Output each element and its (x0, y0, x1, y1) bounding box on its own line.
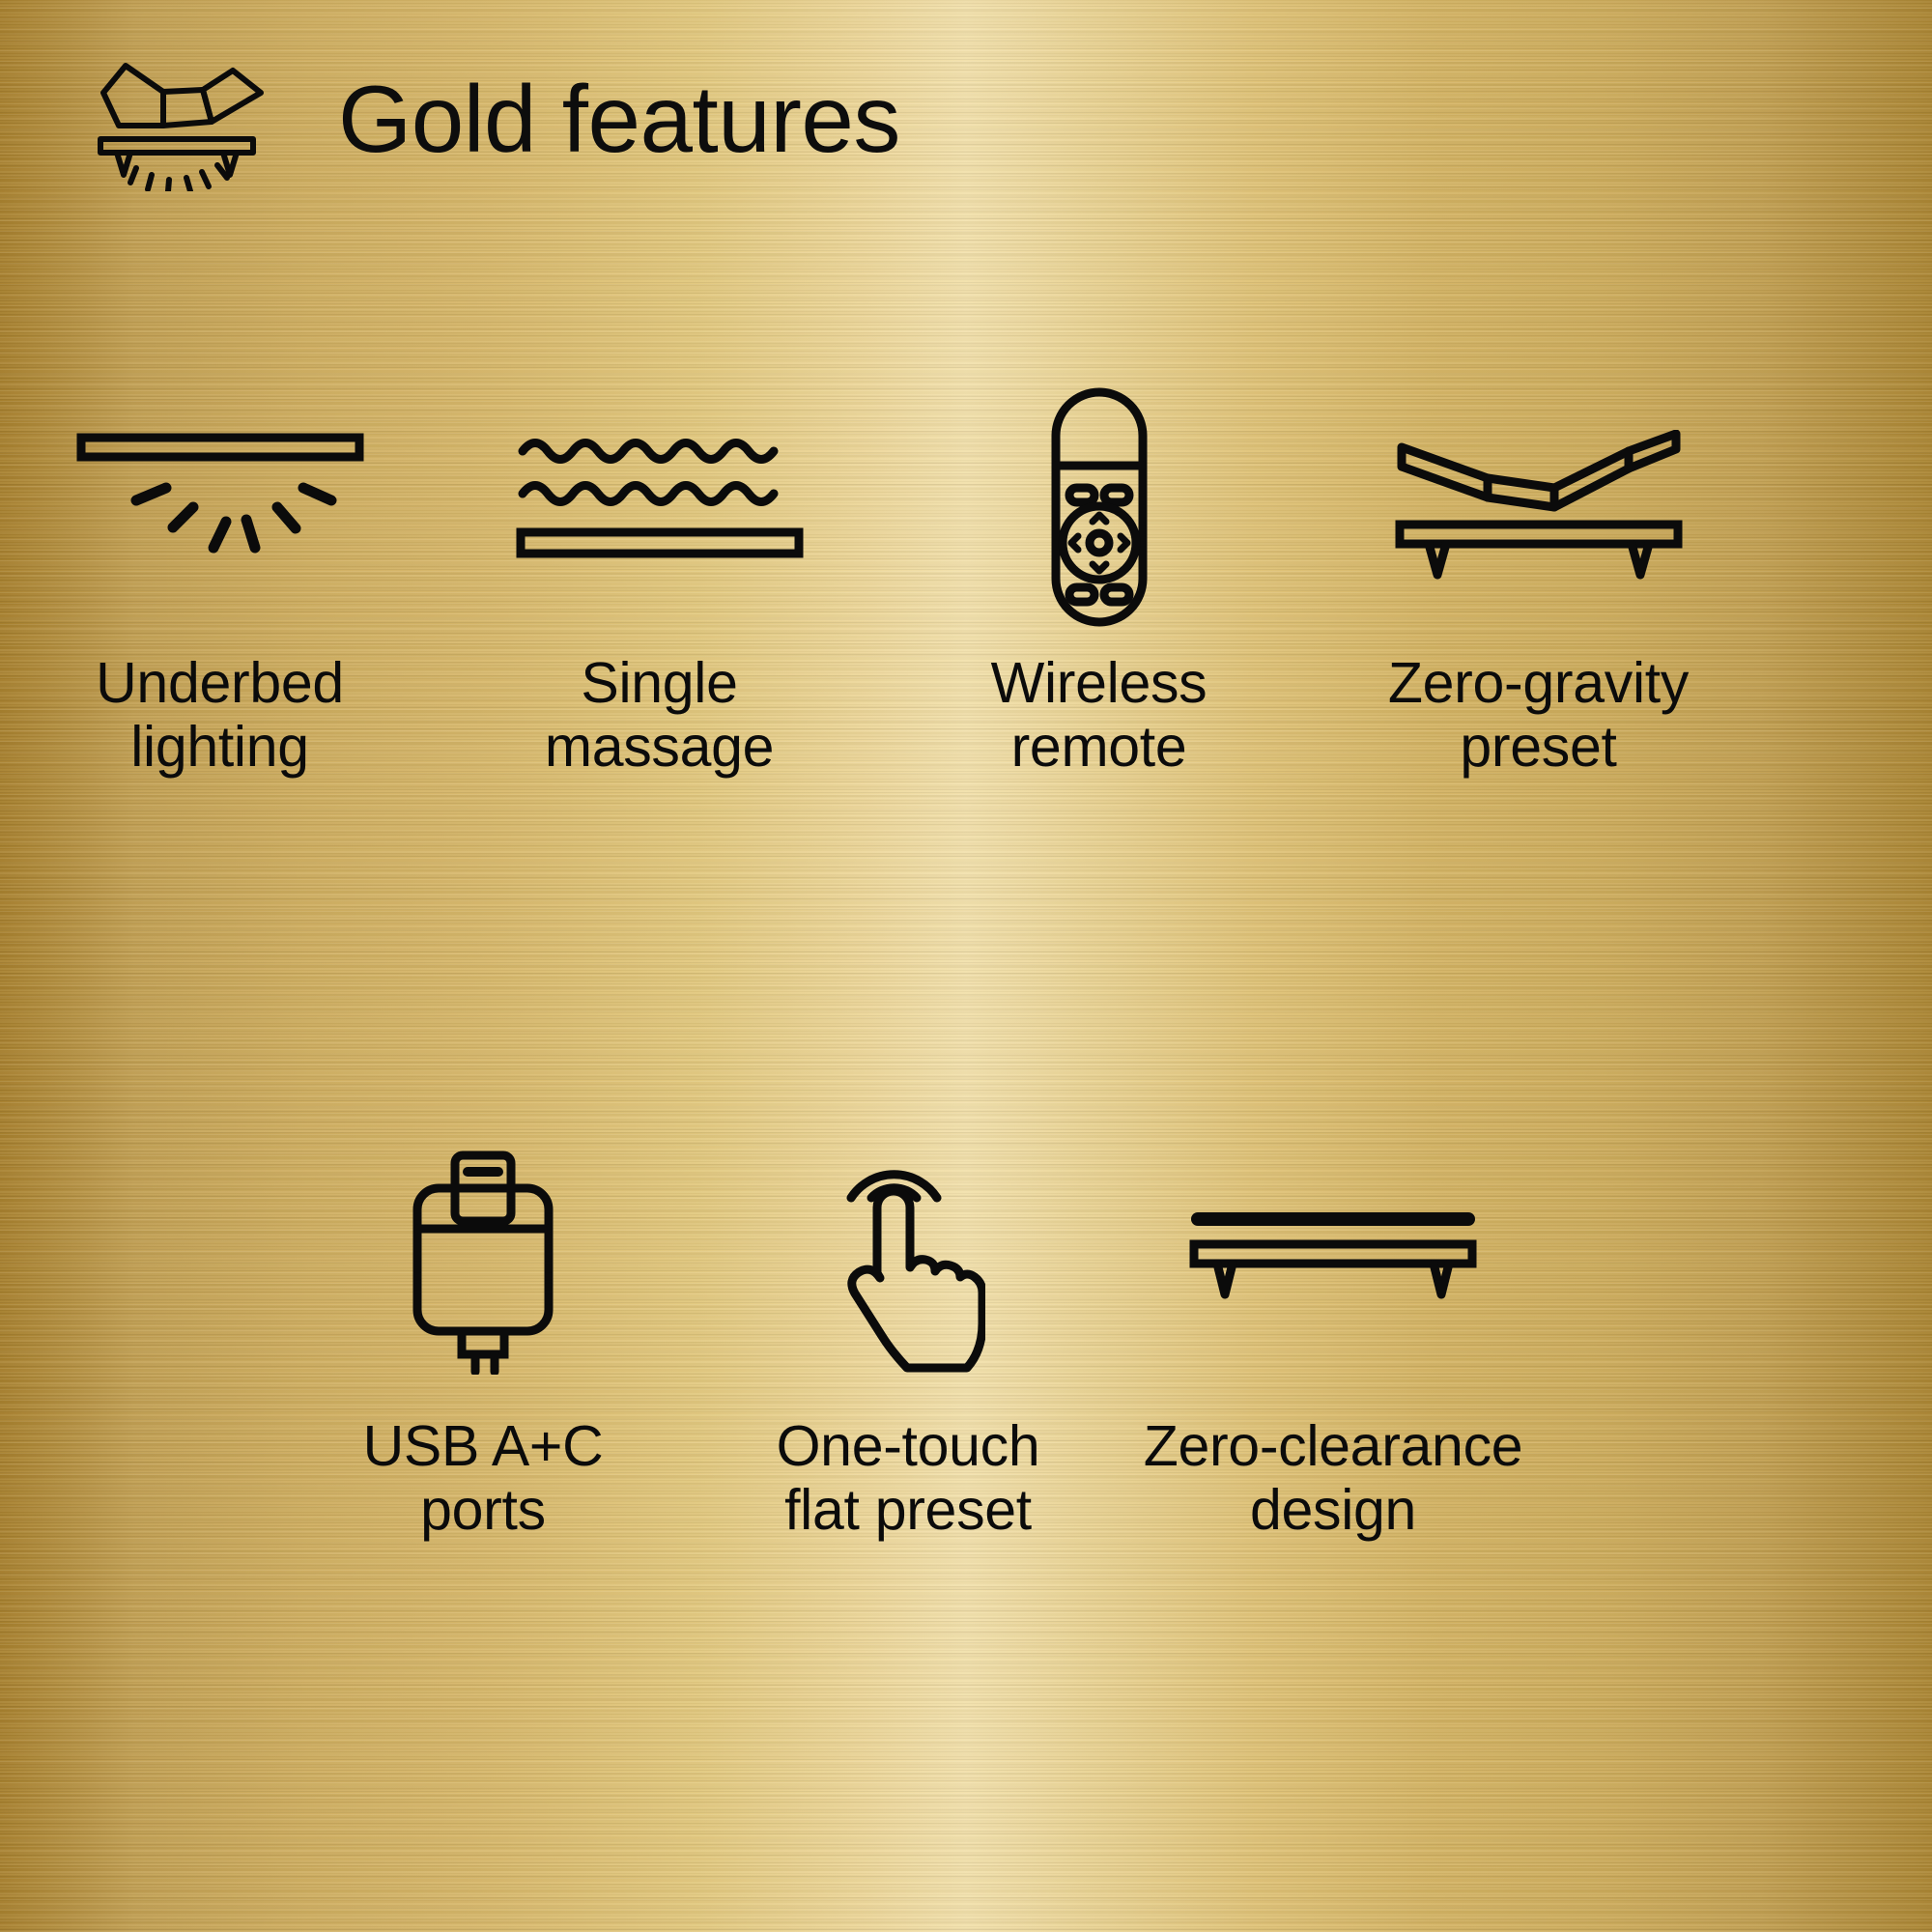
one-touch-hand-icon (831, 1121, 985, 1401)
feature-label: Single massage (545, 651, 774, 779)
zero-clearance-bed-icon (1188, 1121, 1478, 1401)
adjustable-bed-lighting-icon (92, 46, 280, 191)
zero-gravity-bed-icon (1394, 377, 1684, 638)
feature-row-one: Underbed lighting Single massage (0, 377, 1932, 779)
feature-underbed-lighting[interactable]: Underbed lighting (0, 377, 440, 779)
feature-zero-gravity-preset[interactable]: Zero-gravity preset (1319, 377, 1758, 779)
feature-row-two: USB A+C ports One-touch flat preset (0, 1121, 1932, 1542)
page-header: Gold features (92, 46, 900, 191)
feature-one-touch-flat-preset[interactable]: One-touch flat preset (696, 1121, 1121, 1542)
gold-background-plate: Gold features (0, 0, 1932, 1932)
usb-plug-icon (406, 1121, 560, 1401)
feature-label: USB A+C ports (363, 1414, 604, 1542)
feature-label: Zero-clearance design (1144, 1414, 1523, 1542)
wireless-remote-icon (1037, 377, 1162, 638)
feature-label: Zero-gravity preset (1388, 651, 1689, 779)
page-content: Gold features (0, 0, 1932, 1932)
massage-waves-icon (515, 377, 805, 638)
feature-label: Wireless remote (991, 651, 1207, 779)
underbed-lighting-icon (75, 377, 365, 638)
feature-wireless-remote[interactable]: Wireless remote (879, 377, 1319, 779)
feature-label: One-touch flat preset (777, 1414, 1040, 1542)
page-title: Gold features (338, 71, 900, 166)
feature-single-massage[interactable]: Single massage (440, 377, 879, 779)
feature-label: Underbed lighting (96, 651, 344, 779)
feature-zero-clearance-design[interactable]: Zero-clearance design (1121, 1121, 1546, 1542)
feature-usb-ports[interactable]: USB A+C ports (270, 1121, 696, 1542)
